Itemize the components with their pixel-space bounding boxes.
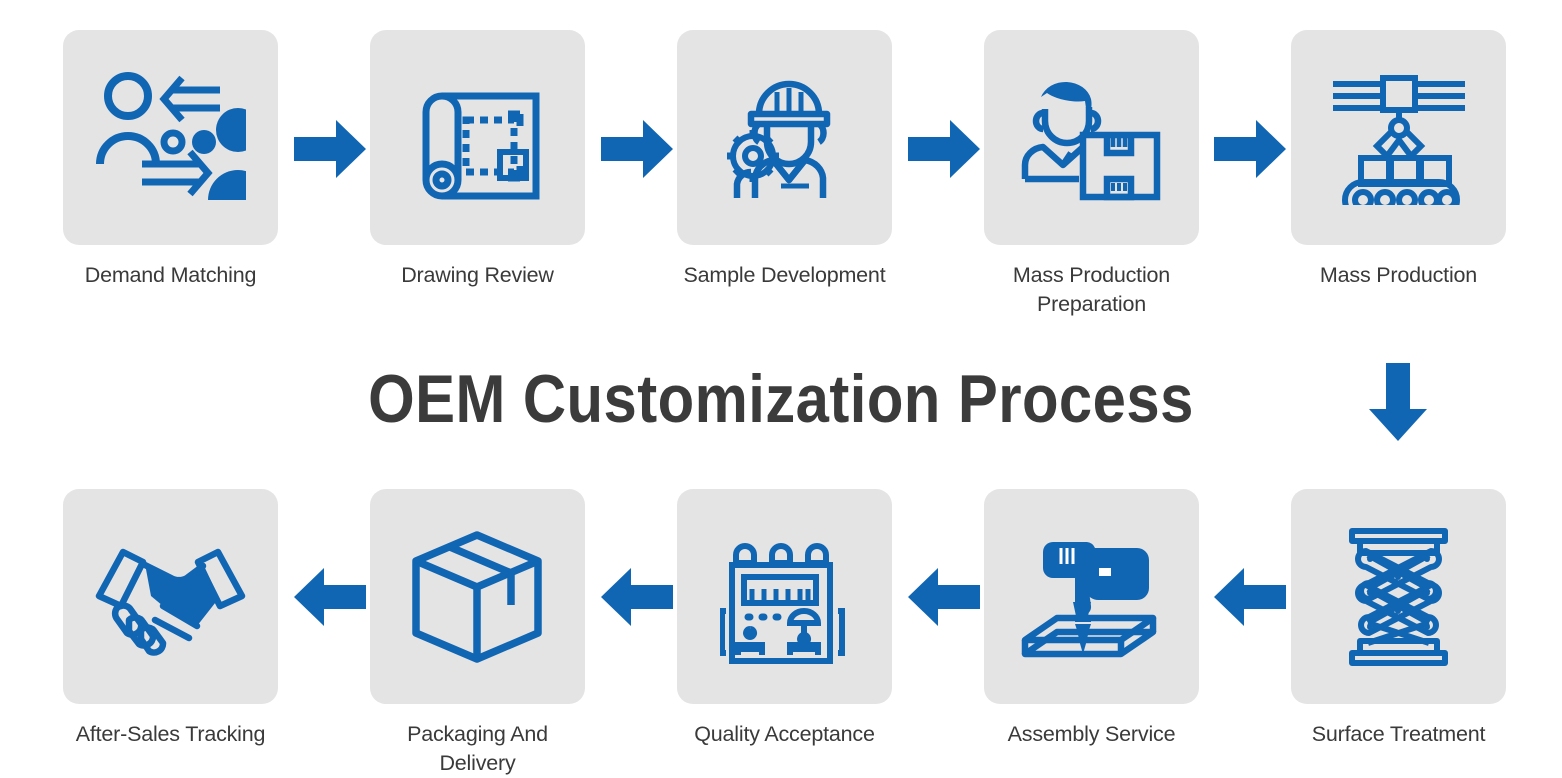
step-label: Sample Development bbox=[684, 261, 886, 290]
process-step-packaging-and-delivery[interactable]: Packaging And Delivery bbox=[370, 489, 585, 778]
arrow-left-icon bbox=[294, 568, 366, 626]
arrow-right-icon bbox=[294, 120, 366, 178]
step-label: Drawing Review bbox=[401, 261, 554, 290]
conveyor-robot-arm-icon bbox=[1329, 70, 1469, 205]
worker-package-icon bbox=[1019, 73, 1164, 203]
process-step-assembly-service[interactable]: Assembly Service bbox=[984, 489, 1199, 749]
process-step-sample-development[interactable]: Sample Development bbox=[677, 30, 892, 290]
step-card bbox=[1291, 30, 1506, 245]
step-card bbox=[63, 489, 278, 704]
arrow-left-icon bbox=[601, 568, 673, 626]
step-card bbox=[677, 489, 892, 704]
step-label: Packaging And Delivery bbox=[370, 720, 585, 778]
power-drill-screw-icon bbox=[1017, 524, 1167, 669]
step-label: Surface Treatment bbox=[1312, 720, 1485, 749]
process-step-after-sales-tracking[interactable]: After-Sales Tracking bbox=[63, 489, 278, 749]
page-title: OEM Customization Process bbox=[94, 358, 1469, 440]
step-card bbox=[1291, 489, 1506, 704]
engineer-gear-icon bbox=[715, 68, 855, 208]
step-label: Quality Acceptance bbox=[694, 720, 874, 749]
step-label: Mass Production bbox=[1320, 261, 1477, 290]
step-card bbox=[984, 489, 1199, 704]
process-flow-diagram: Demand Matching bbox=[0, 0, 1562, 777]
demand-matching-icon bbox=[96, 68, 246, 208]
step-label: Demand Matching bbox=[85, 261, 256, 290]
arrow-right-icon bbox=[601, 120, 673, 178]
process-step-mass-production-preparation[interactable]: Mass Production Preparation bbox=[984, 30, 1199, 319]
process-step-drawing-review[interactable]: Drawing Review bbox=[370, 30, 585, 290]
arrow-right-icon bbox=[1214, 120, 1286, 178]
step-label: Assembly Service bbox=[1008, 720, 1176, 749]
step-label: Mass Production Preparation bbox=[1013, 261, 1170, 319]
arrow-right-icon bbox=[908, 120, 980, 178]
step-label: After-Sales Tracking bbox=[76, 720, 266, 749]
step-card bbox=[370, 489, 585, 704]
step-card bbox=[370, 30, 585, 245]
process-step-mass-production[interactable]: Mass Production bbox=[1291, 30, 1506, 290]
step-card bbox=[984, 30, 1199, 245]
shipping-box-icon bbox=[410, 527, 545, 667]
step-card bbox=[677, 30, 892, 245]
process-step-surface-treatment[interactable]: Surface Treatment bbox=[1291, 489, 1506, 749]
step-card bbox=[63, 30, 278, 245]
process-step-quality-acceptance[interactable]: Quality Acceptance bbox=[677, 489, 892, 749]
scissor-lift-icon bbox=[1346, 527, 1451, 667]
process-step-demand-matching[interactable]: Demand Matching bbox=[63, 30, 278, 290]
arrow-left-icon bbox=[908, 568, 980, 626]
inspection-machine-icon bbox=[720, 529, 850, 664]
arrow-left-icon bbox=[1214, 568, 1286, 626]
handshake-icon bbox=[93, 534, 248, 659]
blueprint-roll-icon bbox=[408, 68, 548, 208]
